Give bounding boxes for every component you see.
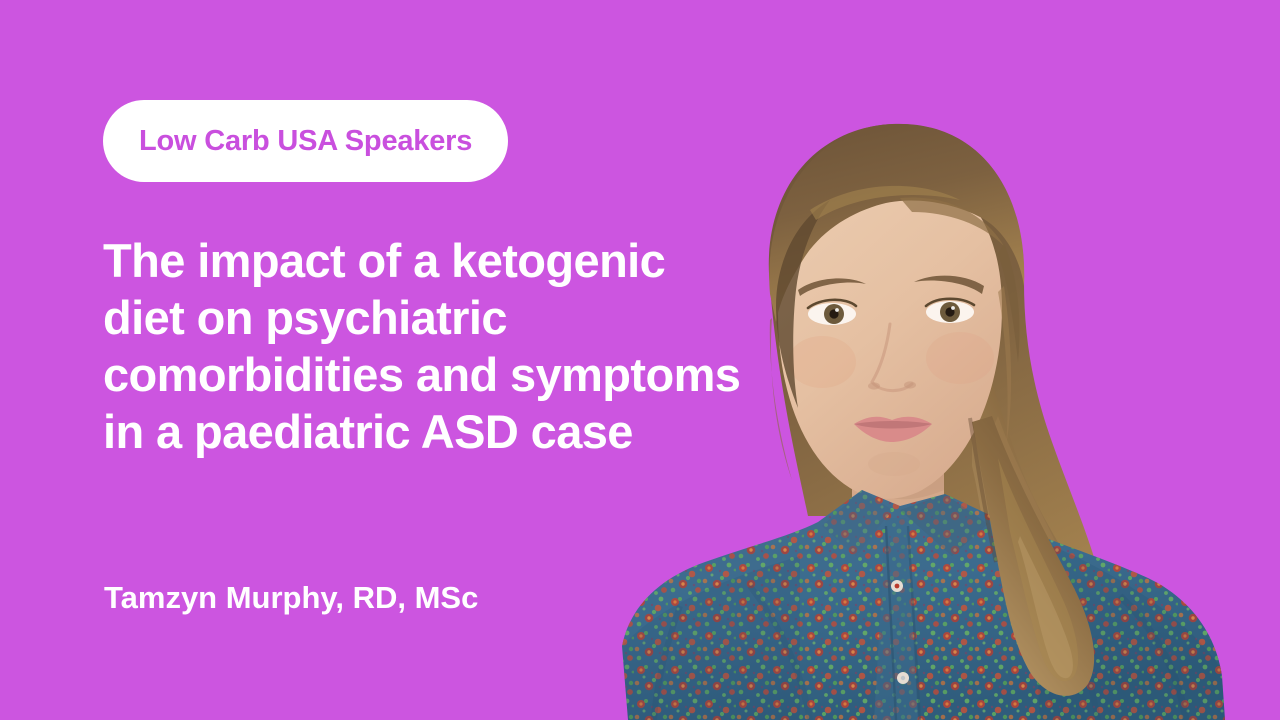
category-badge[interactable]: Low Carb USA Speakers (103, 100, 508, 182)
talk-title: The impact of a ketogenic diet on psychi… (103, 232, 803, 460)
category-badge-label: Low Carb USA Speakers (139, 125, 472, 158)
talk-title-line-4: in a paediatric ASD case (103, 403, 803, 460)
speaker-name: Tamzyn Murphy, RD, MSc (104, 578, 478, 618)
portrait-shirt (600, 476, 1240, 720)
talk-title-line-3: comorbidities and symptoms (103, 346, 803, 403)
talk-title-line-2: diet on psychiatric (103, 289, 803, 346)
talk-title-line-1: The impact of a ketogenic (103, 232, 803, 289)
speaker-announcement-slide: Low Carb USA Speakers The impact of a ke… (0, 0, 1280, 720)
speaker-credit: Tamzyn Murphy, RD, MSc (104, 578, 478, 618)
